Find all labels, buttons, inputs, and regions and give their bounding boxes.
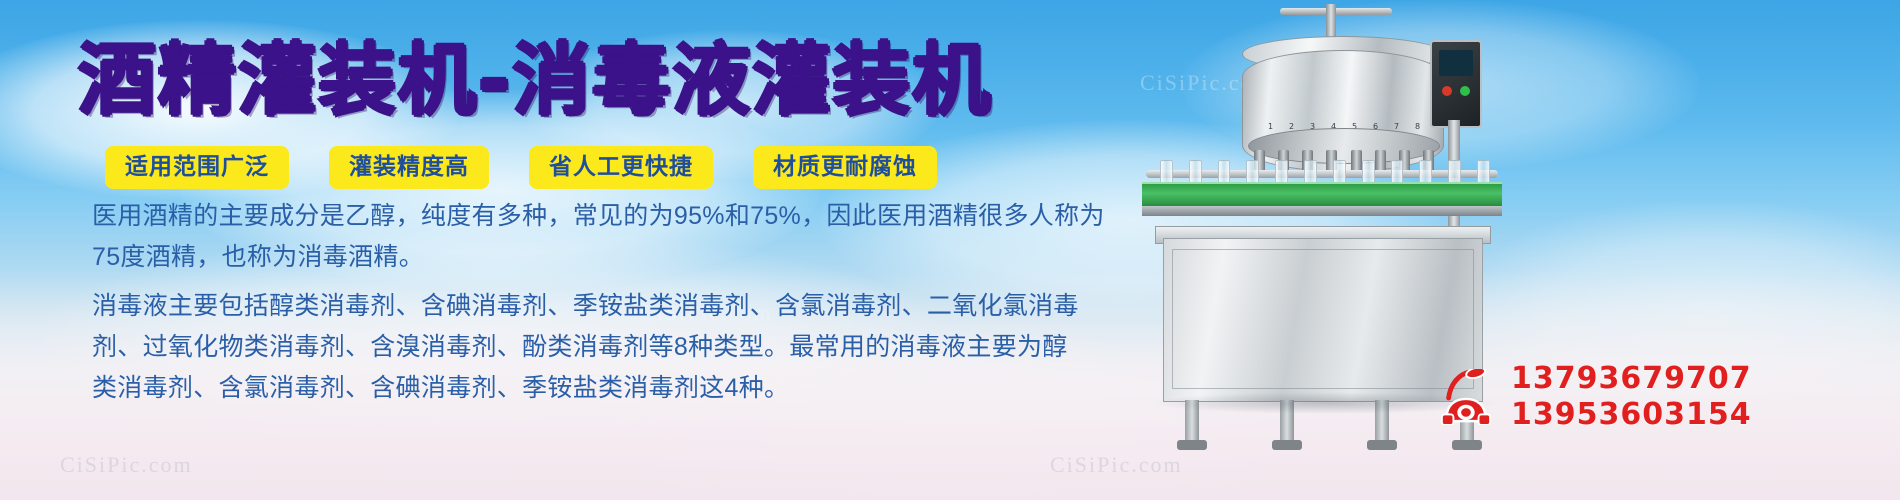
panel-indicator-red: [1442, 86, 1452, 96]
machine-conveyor-frame: [1142, 206, 1502, 216]
machine-foot: [1177, 440, 1207, 450]
feature-badge-list: 适用范围广泛 灌装精度高 省人工更快捷 材质更耐腐蚀: [105, 146, 937, 189]
dial-number: 8: [1415, 122, 1420, 131]
banner-headline: 酒精灌装机-消毒液灌装机: [78, 42, 992, 120]
phone-number-secondary[interactable]: 13953603154: [1511, 398, 1752, 432]
feature-badge-4: 材质更耐腐蚀: [753, 146, 937, 189]
description-line: 剂、过氧化物类消毒剂、含溴消毒剂、酚类消毒剂等8种类型。最常用的消毒液主要为醇: [92, 327, 1102, 368]
panel-indicator-green: [1460, 86, 1470, 96]
description-line: 75度酒精，也称为消毒酒精。: [92, 237, 1102, 278]
feature-badge-3: 省人工更快捷: [529, 146, 713, 189]
product-banner: CiSiPic.com CiSiPic.com CiSiPic.com CiSi…: [0, 0, 1900, 500]
feature-badge-2: 灌装精度高: [329, 146, 489, 189]
watermark: CiSiPic.com: [60, 452, 193, 478]
panel-screen: [1439, 50, 1473, 76]
machine-foot: [1272, 440, 1302, 450]
phone-number-primary[interactable]: 13793679707: [1511, 362, 1752, 396]
contact-phone-block[interactable]: 13793679707 13953603154: [1435, 362, 1752, 432]
feature-badge-1: 适用范围广泛: [105, 146, 289, 189]
dial-number: 7: [1394, 122, 1399, 131]
description-line: 类消毒剂、含氯消毒剂、含碘消毒剂、季铵盐类消毒剂这4种。: [92, 368, 1102, 409]
machine-control-panel: [1430, 40, 1482, 128]
machine-foot: [1452, 440, 1482, 450]
dial-number: 2: [1289, 122, 1294, 131]
machine-foot: [1367, 440, 1397, 450]
machine-crossbar: [1280, 8, 1392, 15]
description-paragraph-1: 医用酒精的主要成分是乙醇，纯度有多种，常见的为95%和75%，因此医用酒精很多人…: [92, 196, 1102, 278]
description-line: 医用酒精的主要成分是乙醇，纯度有多种，常见的为95%和75%，因此医用酒精很多人…: [92, 196, 1102, 237]
banner-description: 医用酒精的主要成分是乙醇，纯度有多种，常见的为95%和75%，因此医用酒精很多人…: [92, 196, 1102, 409]
telephone-icon: [1435, 369, 1497, 425]
dial-number: 1: [1268, 122, 1273, 131]
phone-number-list: 13793679707 13953603154: [1511, 362, 1752, 432]
description-line: 消毒液主要包括醇类消毒剂、含碘消毒剂、季铵盐类消毒剂、含氯消毒剂、二氧化氯消毒: [92, 286, 1102, 327]
description-paragraph-2: 消毒液主要包括醇类消毒剂、含碘消毒剂、季铵盐类消毒剂、含氯消毒剂、二氧化氯消毒 …: [92, 286, 1102, 409]
